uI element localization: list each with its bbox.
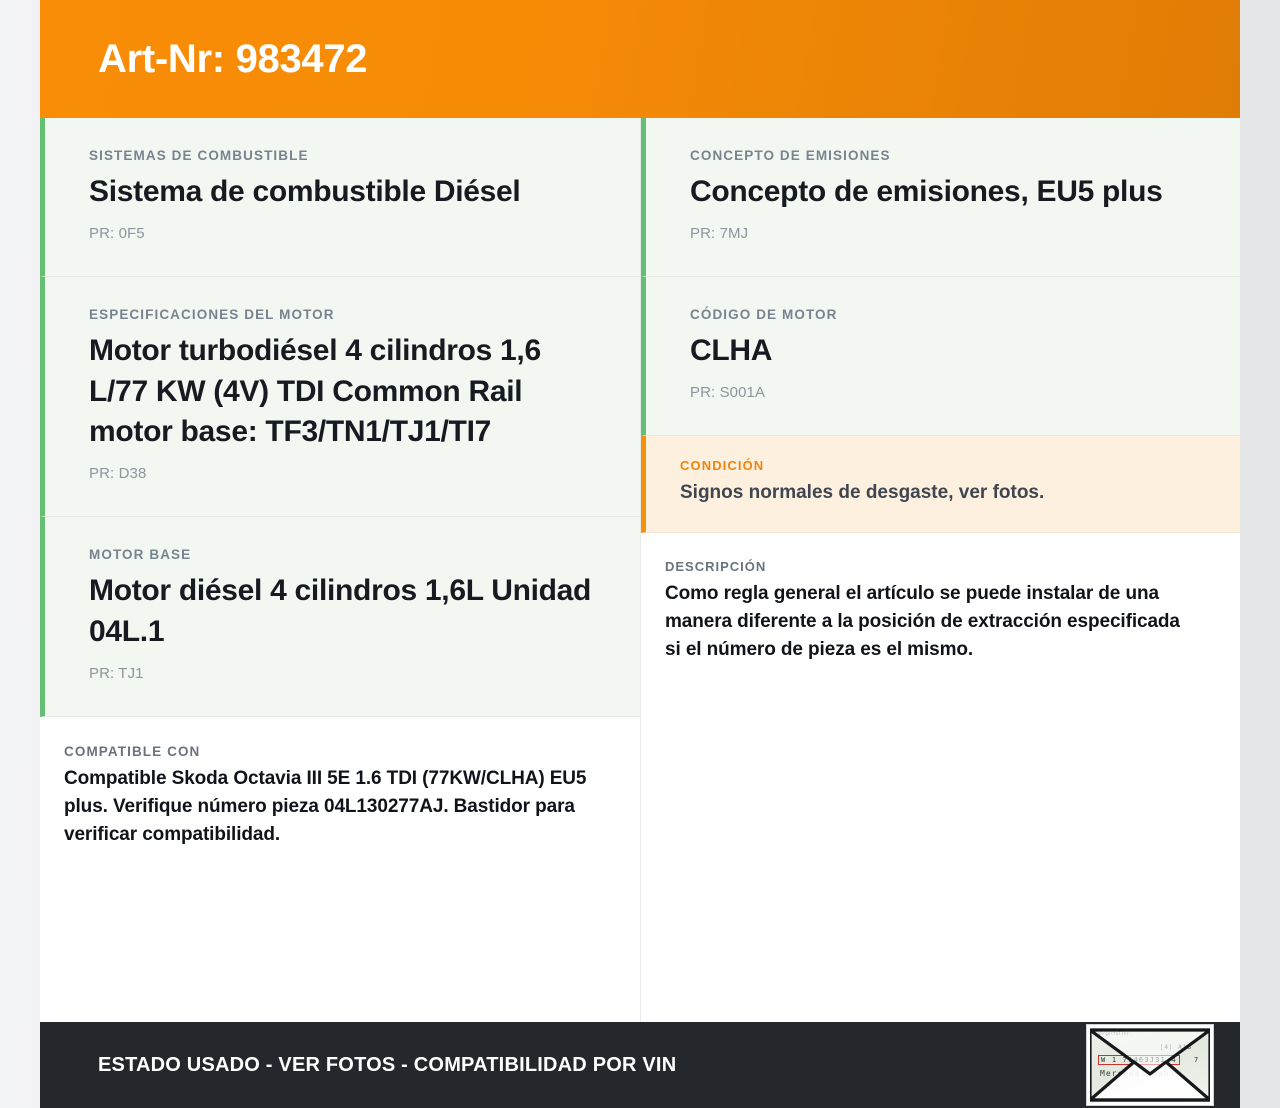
vin-document-thumbnail[interactable]: Fahrgestellnr. |4| A1B W 1 71463J31 4 7 … — [1086, 1024, 1214, 1106]
compatible-text: Compatible Skoda Octavia III 5E 1.6 TDI … — [64, 765, 596, 849]
right-column-filler — [641, 685, 1240, 1022]
content-columns: SISTEMAS DE COMBUSTIBLE Sistema de combu… — [40, 118, 1240, 1022]
description-label: DESCRIPCIÓN — [665, 559, 1196, 574]
listing-card: Art-Nr: 983472 SISTEMAS DE COMBUSTIBLE S… — [40, 0, 1240, 1108]
condition-label: CONDICIÓN — [680, 458, 1196, 473]
spec-pr-code: PR: D38 — [89, 465, 596, 482]
spec-label: ESPECIFICACIONES DEL MOTOR — [89, 307, 596, 322]
condition-text: Signos normales de desgaste, ver fotos. — [680, 480, 1196, 507]
spec-pr-code: PR: 0F5 — [89, 225, 596, 242]
description-section: DESCRIPCIÓN Como regla general el artícu… — [641, 533, 1240, 684]
spec-card-emissions: CONCEPTO DE EMISIONES Concepto de emisio… — [641, 118, 1240, 277]
spec-pr-code: PR: 7MJ — [690, 225, 1196, 242]
description-text: Como regla general el artículo se puede … — [665, 580, 1196, 664]
left-column: SISTEMAS DE COMBUSTIBLE Sistema de combu… — [40, 118, 641, 1022]
spec-card-engine-base: MOTOR BASE Motor diésel 4 cilindros 1,6L… — [40, 517, 640, 717]
spec-value: Motor turbodiésel 4 cilindros 1,6 L/77 K… — [89, 331, 596, 453]
spec-label: MOTOR BASE — [89, 547, 596, 562]
envelope-icon — [1090, 1028, 1210, 1102]
spec-value: Motor diésel 4 cilindros 1,6L Unidad 04L… — [89, 571, 596, 653]
compatible-with-section: COMPATIBLE CON Compatible Skoda Octavia … — [40, 717, 640, 883]
spec-value: CLHA — [690, 331, 1196, 372]
spec-pr-code: PR: TJ1 — [89, 665, 596, 682]
spec-label: CONCEPTO DE EMISIONES — [690, 148, 1196, 163]
footer-bar: ESTADO USADO - VER FOTOS - COMPATIBILIDA… — [40, 1022, 1240, 1108]
condition-card: CONDICIÓN Signos normales de desgaste, v… — [641, 436, 1240, 534]
spec-card-fuel-system: SISTEMAS DE COMBUSTIBLE Sistema de combu… — [40, 118, 640, 277]
right-column: CONCEPTO DE EMISIONES Concepto de emisio… — [641, 118, 1240, 1022]
footer-text: ESTADO USADO - VER FOTOS - COMPATIBILIDA… — [98, 1054, 676, 1077]
spec-value: Sistema de combustible Diésel — [89, 172, 596, 213]
header-bar: Art-Nr: 983472 — [40, 0, 1240, 118]
spec-value: Concepto de emisiones, EU5 plus — [690, 172, 1196, 213]
spec-card-engine-code: CÓDIGO DE MOTOR CLHA PR: S001A — [641, 277, 1240, 436]
compatible-label: COMPATIBLE CON — [64, 744, 596, 759]
thumbnail-inner: Fahrgestellnr. |4| A1B W 1 71463J31 4 7 … — [1090, 1028, 1210, 1102]
spec-label: CÓDIGO DE MOTOR — [690, 307, 1196, 322]
spec-label: SISTEMAS DE COMBUSTIBLE — [89, 148, 596, 163]
left-column-filler — [40, 883, 640, 1022]
spec-pr-code: PR: S001A — [690, 384, 1196, 401]
page-title: Art-Nr: 983472 — [98, 39, 367, 79]
spec-card-engine-specs: ESPECIFICACIONES DEL MOTOR Motor turbodi… — [40, 277, 640, 517]
